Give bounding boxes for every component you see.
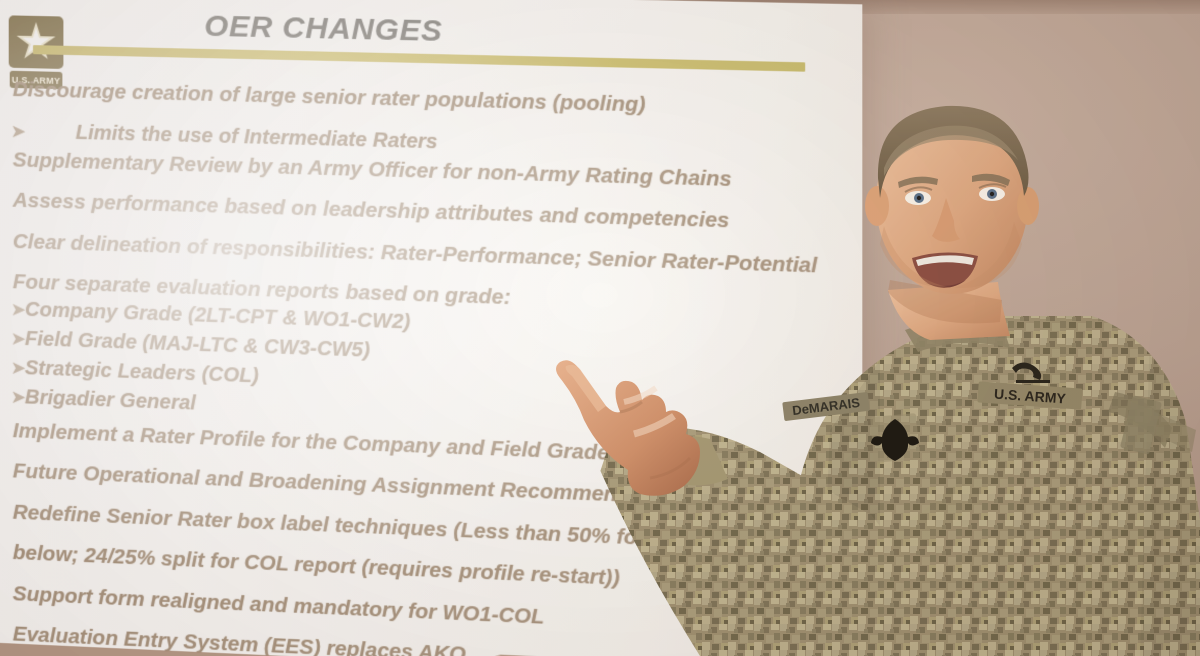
bullet-line: Clear delineation of responsibilities: R…	[1, 231, 836, 277]
bullet-text: Future Operational and Broadening Assign…	[13, 459, 695, 509]
bullet-line: Assess performance based on leadership a…	[1, 190, 836, 235]
bullet-line: Discourage creation of large senior rate…	[1, 80, 836, 121]
bullet-text: below; 24/25% split for COL report (requ…	[13, 541, 620, 590]
screenshot-root: U.S. ARMY OER CHANGES Discourage creatio…	[0, 0, 1200, 656]
bullet-text: Limits the use of Intermediate Raters	[76, 121, 438, 153]
chevron-right-icon: ➤	[11, 358, 26, 377]
bullet-text: Clear delineation of responsibilities: R…	[13, 229, 817, 277]
chevron-right-icon: ➤	[11, 122, 26, 141]
chevron-right-icon: ➤	[11, 300, 26, 319]
presentation-slide: U.S. ARMY OER CHANGES Discourage creatio…	[0, 0, 862, 656]
bullet-text: Field Grade (MAJ-LTC & CW3-CW5)	[25, 327, 370, 361]
bullet-text: Strategic Leaders (COL)	[25, 357, 259, 387]
projection-screen: U.S. ARMY OER CHANGES Discourage creatio…	[0, 0, 862, 656]
slide-body-list: Discourage creation of large senior rate…	[1, 80, 836, 656]
bullet-text: Discourage creation of large senior rate…	[13, 78, 646, 117]
bullet-text: Assess performance based on leadership a…	[13, 189, 730, 233]
bullet-text: Brigadier General	[25, 386, 196, 414]
chevron-right-icon: ➤	[11, 387, 26, 406]
chevron-right-icon: ➤	[11, 329, 26, 348]
bullet-text: Support form realigned and mandatory for…	[13, 582, 544, 629]
